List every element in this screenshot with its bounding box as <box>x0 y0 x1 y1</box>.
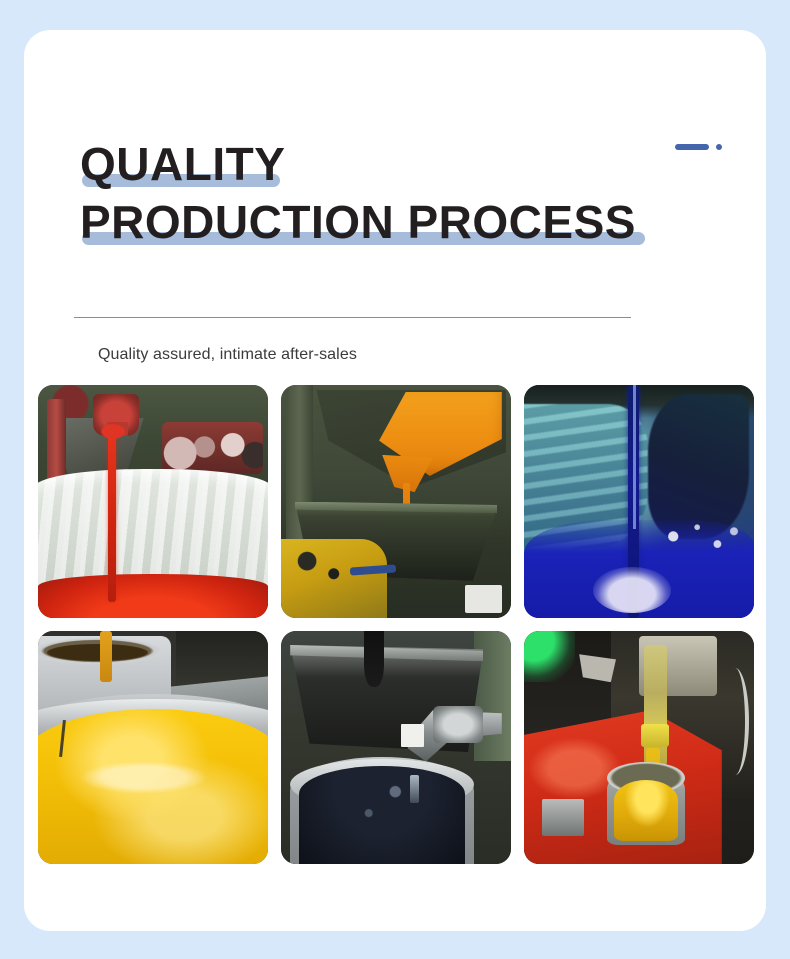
blue-ink-flow-image <box>524 385 754 618</box>
title-line-1-text: QUALITY <box>80 138 285 190</box>
gallery-tile-5[interactable] <box>281 631 511 864</box>
black-ink-drum-image <box>281 631 511 864</box>
process-image-gallery <box>38 385 754 864</box>
page-root: QUALITY PRODUCTION PROCESS Quality assur… <box>0 0 790 959</box>
header-section: QUALITY PRODUCTION PROCESS Quality assur… <box>24 30 766 360</box>
content-card: QUALITY PRODUCTION PROCESS Quality assur… <box>24 30 766 931</box>
gallery-tile-1[interactable] <box>38 385 268 618</box>
dash-mark-icon <box>675 144 709 150</box>
gallery-tile-4[interactable] <box>38 631 268 864</box>
dot-mark-icon <box>716 144 722 150</box>
yellow-ink-pails-image <box>38 631 268 864</box>
red-ink-pour-image <box>38 385 268 618</box>
orange-ink-pour-image <box>281 385 511 618</box>
header-decoration <box>675 144 722 150</box>
title-line-1: QUALITY <box>80 135 680 193</box>
gallery-tile-2[interactable] <box>281 385 511 618</box>
gallery-tile-6[interactable] <box>524 631 754 864</box>
title-line-2-text: PRODUCTION PROCESS <box>80 196 636 248</box>
page-title: QUALITY PRODUCTION PROCESS <box>80 135 680 251</box>
header-divider <box>74 317 631 318</box>
gallery-tile-3[interactable] <box>524 385 754 618</box>
page-subtitle: Quality assured, intimate after-sales <box>98 343 357 367</box>
yellow-ink-filling-machine-image <box>524 631 754 864</box>
title-line-2: PRODUCTION PROCESS <box>80 193 680 251</box>
